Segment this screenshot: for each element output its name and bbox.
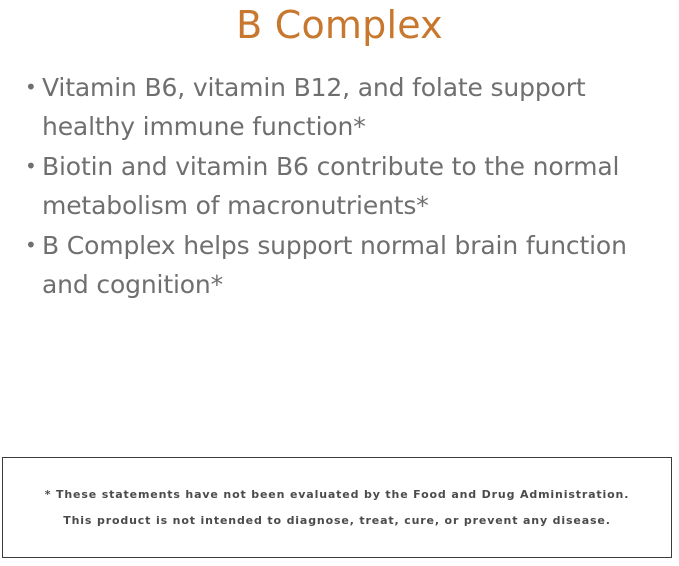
list-item: • Vitamin B6, vitamin B12, and folate su… [22, 68, 658, 146]
bullet-icon: • [25, 226, 37, 265]
fda-disclaimer-box: * These statements have not been evaluat… [2, 457, 672, 558]
benefit-list: • Vitamin B6, vitamin B12, and folate su… [22, 68, 658, 305]
benefit-text: Vitamin B6, vitamin B12, and folate supp… [42, 68, 658, 146]
benefit-text: B Complex helps support normal brain fun… [42, 226, 658, 304]
disclaimer-line-1: * These statements have not been evaluat… [45, 482, 630, 508]
product-info-panel: B Complex • Vitamin B6, vitamin B12, and… [0, 0, 679, 566]
benefit-text: Biotin and vitamin B6 contribute to the … [42, 147, 658, 225]
list-item: • B Complex helps support normal brain f… [22, 226, 658, 304]
page-title: B Complex [0, 2, 679, 48]
disclaimer-line-2: This product is not intended to diagnose… [63, 508, 610, 534]
bullet-icon: • [25, 68, 37, 107]
list-item: • Biotin and vitamin B6 contribute to th… [22, 147, 658, 225]
bullet-icon: • [25, 147, 37, 186]
